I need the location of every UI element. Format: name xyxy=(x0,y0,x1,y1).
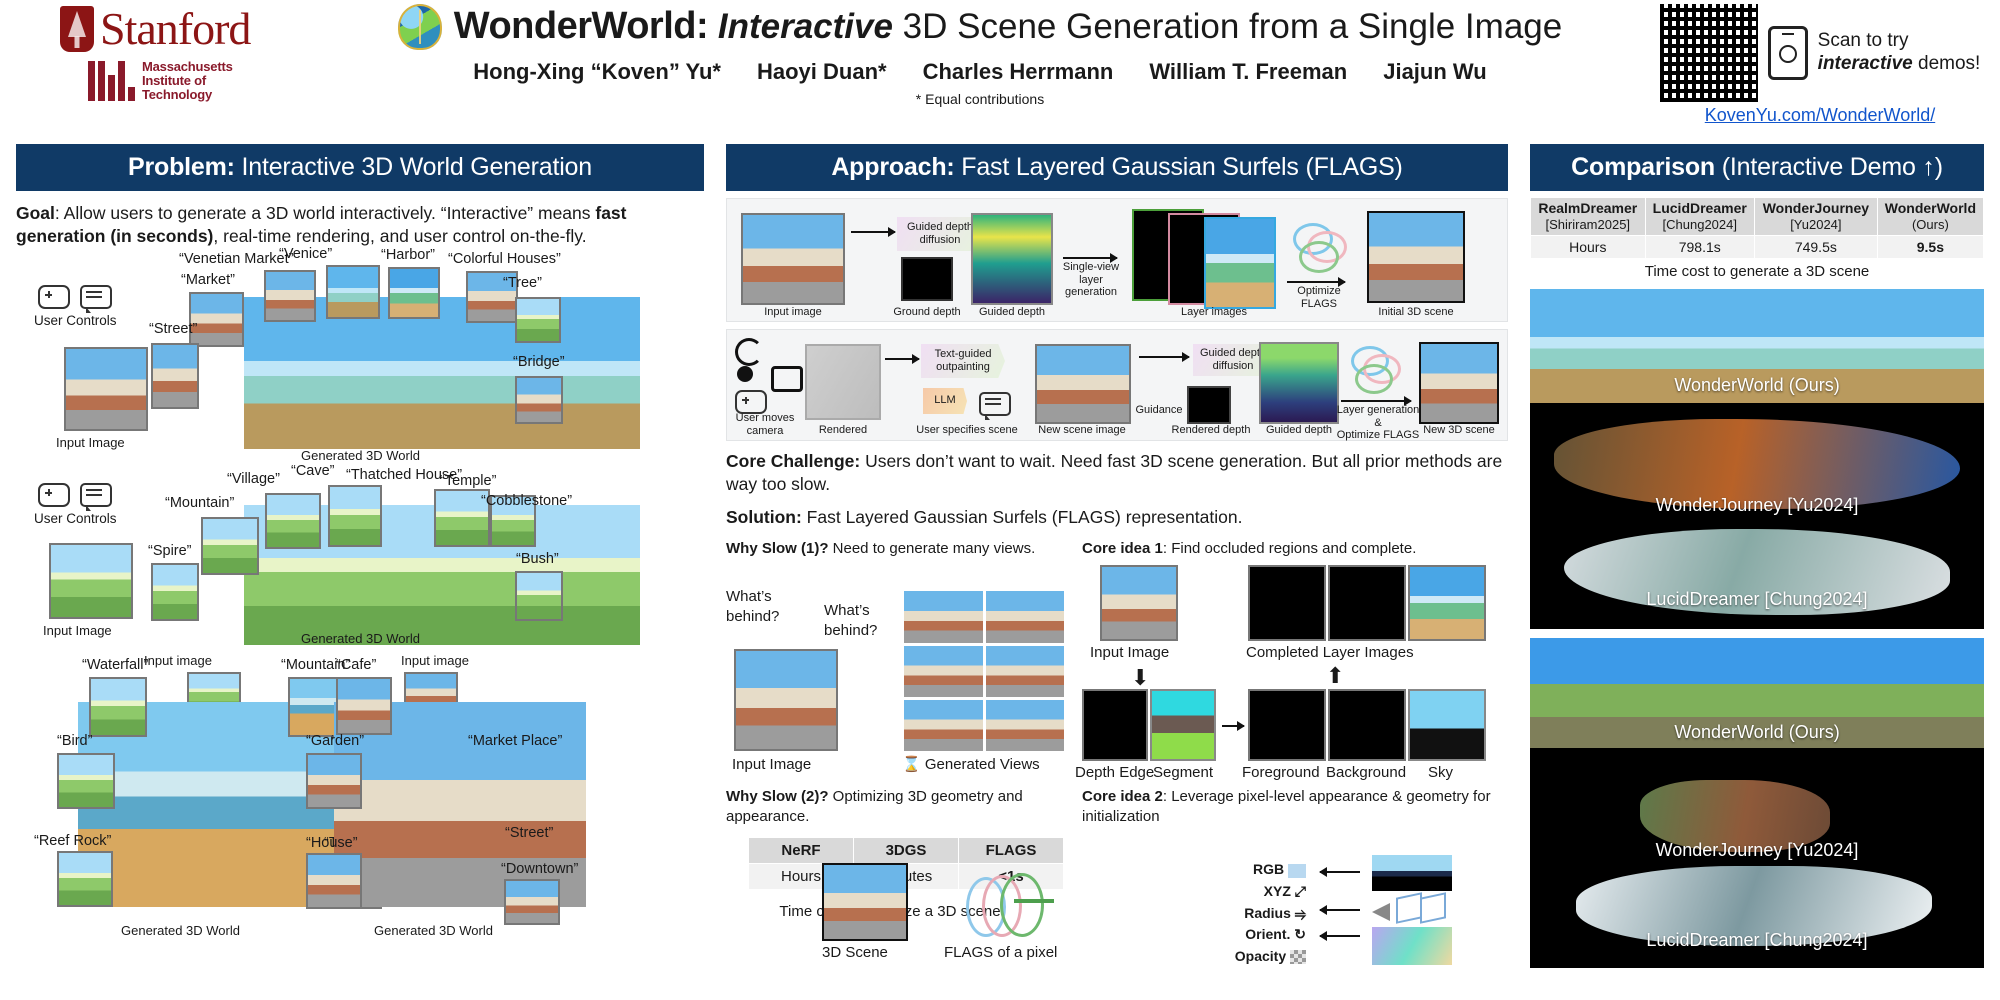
flags-3d-scene-label: 3D Scene xyxy=(822,943,888,963)
poster-root: Stanford Massachusetts Institute of Tech… xyxy=(0,0,2000,1000)
loop-arrow-icon xyxy=(735,338,763,366)
user-controls-label: User Controls xyxy=(34,313,117,328)
why-slow-1-body: Need to generate many views. xyxy=(829,540,1036,557)
generated-views-grid xyxy=(904,591,1064,751)
goal-text-2: , real-time rendering, and user control … xyxy=(213,226,586,246)
brand-name: WonderWorld: xyxy=(454,5,708,47)
segment-label: Segment xyxy=(1153,763,1213,783)
input-image-label-4: Input image xyxy=(401,653,469,668)
core-challenge-text: Core Challenge: Users don’t want to wait… xyxy=(726,450,1508,497)
whats-behind-label-2: What’s behind? xyxy=(824,601,894,640)
ci1-input-image xyxy=(1100,565,1178,641)
scene-thumb xyxy=(326,265,380,319)
scene-thumb xyxy=(515,297,561,343)
scene-thumb xyxy=(306,853,362,909)
stanford-seal-icon xyxy=(60,6,94,52)
demo-label-ours-1: WonderWorld (Ours) xyxy=(1530,375,1984,396)
pipeline1-input-label: Input image xyxy=(741,306,845,319)
cell-luciddreamer: 798.1s xyxy=(1645,236,1754,259)
scene-thumb xyxy=(306,753,362,809)
scene-thumb xyxy=(504,879,560,925)
mit-wordmark: Massachusetts Institute of Technology xyxy=(142,60,233,102)
core-idea-1-body: : Find occluded regions and complete. xyxy=(1163,540,1416,557)
scene-thumb xyxy=(515,376,563,424)
scene-label: “Mountain” xyxy=(165,495,234,511)
user-controls-1[interactable]: User Controls xyxy=(34,285,117,328)
why-slow-1: Why Slow (1)? Need to generate many view… xyxy=(726,539,1056,559)
flags-rgb-source-image xyxy=(1372,855,1452,891)
scene-label: “Cafe” xyxy=(336,657,376,673)
scene-thumb xyxy=(264,270,316,322)
segment-image xyxy=(1150,689,1216,761)
attr-rgb: RGB xyxy=(1253,861,1284,877)
arrow-icon xyxy=(1287,281,1345,283)
layer-images-label: Layer images xyxy=(1159,306,1269,319)
optimize-flags-label-1: Optimize FLAGS xyxy=(1279,285,1359,310)
gamepad-icon[interactable] xyxy=(38,285,70,309)
new-3d-scene-image xyxy=(1419,342,1499,424)
mit-bars-icon xyxy=(88,61,135,101)
wonderworld-globe-icon xyxy=(398,4,442,50)
scene-label: “Harbor” xyxy=(381,247,435,263)
flags-3d-scene-image xyxy=(822,863,908,941)
resize-icon: ⥤ xyxy=(1295,905,1306,921)
scene-thumb xyxy=(151,563,199,621)
input-image-label-3: Input image xyxy=(144,653,212,668)
flags-ellipses-icon-1 xyxy=(1287,217,1359,273)
approach-bar-bold: Approach: xyxy=(831,153,954,181)
attr-xyz: XYZ xyxy=(1264,883,1291,899)
generation-time-caption: Time cost to generate a 3D scene xyxy=(1530,263,1984,280)
ground-depth-image xyxy=(901,257,953,301)
scene-label: “Downtown” xyxy=(501,861,578,877)
guided-depth-label-1: Guided depth xyxy=(971,306,1053,319)
new-scene-image-label: New scene image xyxy=(1027,424,1137,437)
title-rest: 3D Scene Generation from a Single Image xyxy=(893,7,1562,46)
why-slow-input-label: Input Image xyxy=(732,755,811,775)
cell-wonderjourney: 749.5s xyxy=(1754,236,1877,259)
demo-label-ld-1: LucidDreamer [Chung2024] xyxy=(1530,589,1984,610)
gamepad-icon[interactable] xyxy=(735,390,767,414)
foreground-label: Foreground xyxy=(1242,763,1320,783)
comparison-header-bar: Comparison (Interactive Demo ↑) xyxy=(1530,144,1984,191)
depth-edge-image xyxy=(1082,689,1148,761)
gamepad-icon[interactable] xyxy=(38,483,70,507)
demo-label-ours-2: WonderWorld (Ours) xyxy=(1530,722,1984,743)
demo-venice[interactable]: WonderWorld (Ours) WonderJourney [Yu2024… xyxy=(1530,289,1984,629)
goal-text-1: : Allow users to generate a 3D world int… xyxy=(55,203,595,223)
flags-pixel-label: FLAGS of a pixel xyxy=(944,943,1057,963)
pipeline-stage-1: Input image Guided depth diffusion Guida… xyxy=(726,198,1508,322)
demo-label-wj-1: WonderJourney [Yu2024] xyxy=(1530,495,1984,516)
attr-orient: Orient. xyxy=(1245,926,1290,942)
layer-image-sky xyxy=(1204,217,1276,309)
mit-logo: Massachusetts Institute of Technology xyxy=(88,60,320,102)
author: Hong-Xing “Koven” Yu* xyxy=(473,59,721,85)
scan-emphasis: interactive xyxy=(1818,53,1913,74)
scene-row-fantasy: User Controls Input Image “Mountain” “Vi… xyxy=(16,465,704,655)
input-thumb-fantasy xyxy=(49,543,133,619)
scene-label: “Cobblestone” xyxy=(481,493,572,509)
guidance-label-2: Guidance xyxy=(1131,404,1187,417)
mit-line-2: Institute of xyxy=(142,74,233,88)
flags-normal-map-image xyxy=(1372,927,1452,965)
new-scene-image xyxy=(1035,344,1131,424)
camera-frustum-icon xyxy=(1372,893,1452,927)
scene-thumb xyxy=(89,677,147,737)
scene-label: “Cave” xyxy=(291,463,335,479)
input-thumb-venice xyxy=(64,347,148,431)
mit-line-1: Massachusetts xyxy=(142,60,233,74)
scene-row-venice: User Controls Input Image “Market” “Vene… xyxy=(16,255,704,465)
stanford-logo: Stanford xyxy=(60,6,320,52)
approach-bar-rest: Fast Layered Gaussian Surfels (FLAGS) xyxy=(955,153,1403,181)
scene-label: “Temple” xyxy=(440,473,496,489)
ci1-layer-bg xyxy=(1328,565,1406,641)
scene-thumb xyxy=(151,343,199,409)
generation-time-table: RealmDreamer [Shiriram2025] LucidDreamer… xyxy=(1530,197,1984,259)
input-image-label-1: Input Image xyxy=(56,435,125,450)
table-header-row: RealmDreamer [Shiriram2025] LucidDreamer… xyxy=(1531,198,1984,236)
rendered-depth-label: Rendered depth xyxy=(1171,424,1251,437)
scene-thumb xyxy=(336,677,392,735)
col-luciddreamer: LucidDreamer [Chung2024] xyxy=(1645,198,1754,236)
col-wonderworld: WonderWorld (Ours) xyxy=(1877,198,1983,236)
mit-line-3: Technology xyxy=(142,88,233,102)
scan-text: Scan to try interactive demos! xyxy=(1818,30,1981,76)
scene-label: “Bridge” xyxy=(513,354,565,370)
problem-column: Problem: Interactive 3D World Generation… xyxy=(16,144,704,955)
problem-bar-rest: Interactive 3D World Generation xyxy=(235,153,592,181)
hourglass-icon: ⌛ xyxy=(902,756,921,773)
arrow-icon xyxy=(1139,356,1189,358)
title-italic: Interactive xyxy=(718,7,893,46)
text-prompt-icon[interactable] xyxy=(979,392,1011,416)
rgb-swatch-icon xyxy=(1288,864,1306,878)
camera-icon xyxy=(771,366,803,392)
pipeline1-input-image xyxy=(741,213,845,305)
initial-scene-label: Initial 3D scene xyxy=(1367,306,1465,319)
generated-world-label-1: Generated 3D World xyxy=(301,448,420,463)
scan-line-1: Scan to try xyxy=(1818,30,1981,53)
whats-behind-label-1: What’s behind? xyxy=(726,587,796,626)
approach-lower: Why Slow (1)? Need to generate many view… xyxy=(726,539,1508,879)
core-idea-2: Core idea 2: Leverage pixel-level appear… xyxy=(1082,787,1502,826)
depth-edge-label: Depth Edge xyxy=(1075,763,1154,783)
up-arrow-icon: ⬆ xyxy=(1326,663,1344,689)
ci1-input-label: Input Image xyxy=(1090,643,1169,663)
scene-thumb xyxy=(515,571,563,621)
guided-depth-image-1 xyxy=(971,213,1053,305)
scan-line-2: demos! xyxy=(1913,53,1981,74)
poster-header: Stanford Massachusetts Institute of Tech… xyxy=(0,0,2000,132)
user-icon xyxy=(737,366,753,382)
solution-label: Solution: xyxy=(726,507,802,527)
scene-label: “Waterfall” xyxy=(82,657,148,673)
rendered-label: Rendered xyxy=(803,424,883,437)
ci1-layer-sky xyxy=(1408,565,1486,641)
author: Haoyi Duan* xyxy=(757,59,887,85)
demo-label-wj-2: WonderJourney [Yu2024] xyxy=(1530,840,1984,861)
text-prompt-icon[interactable] xyxy=(80,483,112,507)
scene-thumb xyxy=(388,267,440,319)
rendered-image xyxy=(805,344,881,420)
arrow-icon xyxy=(1320,909,1360,911)
demo-label-ld-2: LucidDreamer [Chung2024] xyxy=(1530,930,1984,951)
flags-pixel-diagram: 3D Scene FLAGS of a pixel RGB XYZ ⤢ Radi… xyxy=(726,857,1508,967)
col-wonderjourney: WonderJourney [Yu2024] xyxy=(1754,198,1877,236)
flags-attribute-list: RGB XYZ ⤢ Radius ⥤ Orient. ↻ Opacity xyxy=(1126,859,1306,967)
approach-header-bar: Approach: Fast Layered Gaussian Surfels … xyxy=(726,144,1508,191)
scene-label: “House” xyxy=(306,835,358,851)
stanford-wordmark: Stanford xyxy=(100,6,250,52)
table-row: Hours 798.1s 749.5s 9.5s xyxy=(1531,236,1984,259)
core-idea-1-label: Core idea 1 xyxy=(1082,540,1163,557)
background-image xyxy=(1328,689,1406,761)
approach-column: Approach: Fast Layered Gaussian Surfels … xyxy=(726,144,1508,967)
col-realmdreamer: RealmDreamer [Shiriram2025] xyxy=(1531,198,1646,236)
scene-row-dual: Input image “Waterfall” “Mountain” “Bird… xyxy=(16,655,704,955)
page-title: WonderWorld: Interactive 3D Scene Genera… xyxy=(330,4,1630,50)
guided-depth-image-2 xyxy=(1259,342,1339,424)
scene-thumb xyxy=(189,292,244,347)
arrow-icon xyxy=(1320,871,1360,873)
author: William T. Freeman xyxy=(1149,59,1347,85)
generated-world-label-4: Generated 3D World xyxy=(374,923,493,938)
core-idea-1: Core idea 1: Find occluded regions and c… xyxy=(1082,539,1502,559)
scene-thumb xyxy=(201,517,259,575)
scene-thumb xyxy=(265,493,321,549)
user-controls-2[interactable]: User Controls xyxy=(34,483,117,526)
scene-label: “Reef Rock” xyxy=(34,833,111,849)
generated-views-label: ⌛ Generated Views xyxy=(902,755,1040,775)
scene-label: “Spire” xyxy=(148,543,192,559)
problem-header-bar: Problem: Interactive 3D World Generation xyxy=(16,144,704,191)
foreground-image xyxy=(1248,689,1326,761)
arrow-icon xyxy=(1063,257,1117,259)
author-list: Hong-Xing “Koven” Yu* Haoyi Duan* Charle… xyxy=(330,59,1630,85)
scene-label: “Market Place” xyxy=(468,733,562,749)
scene-thumb xyxy=(328,485,382,547)
scene-label: “Garden” xyxy=(306,733,364,749)
qr-code-icon[interactable] xyxy=(1660,4,1758,102)
new-3d-scene-label: New 3D scene xyxy=(1419,424,1499,437)
text-guided-outpainting-box: Text-guided outpainting xyxy=(921,344,1005,378)
user-moves-camera-label: User moves camera xyxy=(729,412,801,437)
opacity-checker-icon xyxy=(1290,950,1306,964)
scene-thumb xyxy=(57,851,113,907)
layer-gen-optimize-label: Layer generation & Optimize FLAGS xyxy=(1331,404,1425,442)
pipeline-stage-2: User moves camera Rendered Text-guided o… xyxy=(726,329,1508,441)
ci1-layer-fg xyxy=(1248,565,1326,641)
why-slow-input-image xyxy=(734,649,838,751)
phone-hand-icon xyxy=(1768,26,1808,80)
title-block: WonderWorld: Interactive 3D Scene Genera… xyxy=(330,4,1630,107)
scene-label: “Venice” xyxy=(279,246,332,262)
down-arrow-icon: ⬇ xyxy=(1131,665,1149,691)
why-slow-1-label: Why Slow (1)? xyxy=(726,540,829,557)
demo-campus[interactable]: WonderWorld (Ours) WonderJourney [Yu2024… xyxy=(1530,638,1984,968)
core-idea-2-label: Core idea 2 xyxy=(1082,788,1163,805)
project-link[interactable]: KovenYu.com/WonderWorld/ xyxy=(1705,105,1935,126)
scene-label: “Market” xyxy=(181,272,235,288)
cell-realmdreamer: Hours xyxy=(1531,236,1646,259)
comparison-bar-bold: Comparison xyxy=(1571,153,1715,181)
rendered-depth-image xyxy=(1187,386,1231,424)
sky-label: Sky xyxy=(1428,763,1453,783)
arrow-icon xyxy=(851,231,895,233)
llm-box: LLM xyxy=(923,388,967,414)
user-specifies-scene-label: User specifies scene xyxy=(907,424,1027,437)
gaussian-surfel-icon xyxy=(966,865,1056,939)
solution-body: Fast Layered Gaussian Surfels (FLAGS) re… xyxy=(802,507,1243,527)
core-challenge-label: Core Challenge: xyxy=(726,451,860,471)
initial-3d-scene-image xyxy=(1367,211,1465,303)
qr-block[interactable]: Scan to try interactive demos! KovenYu.c… xyxy=(1655,4,1985,126)
solution-text: Solution: Fast Layered Gaussian Surfels … xyxy=(726,506,1508,529)
axes-icon: ⤢ xyxy=(1295,883,1306,899)
ci1-completed-label: Completed Layer Images xyxy=(1246,643,1414,663)
guided-depth-label-2: Guided depth xyxy=(1259,424,1339,437)
arrow-icon xyxy=(885,358,919,360)
cell-wonderworld: 9.5s xyxy=(1877,236,1983,259)
input-image-label-2: Input Image xyxy=(43,623,112,638)
text-prompt-icon[interactable] xyxy=(80,285,112,309)
scene-label: “Tree” xyxy=(503,275,542,291)
goal-label: Goal xyxy=(16,203,55,223)
author: Charles Herrmann xyxy=(923,59,1114,85)
scene-label: “Street” xyxy=(149,321,197,337)
equal-contribution-note: * Equal contributions xyxy=(330,91,1630,107)
author: Jiajun Wu xyxy=(1383,59,1487,85)
comparison-bar-rest: (Interactive Demo ↑) xyxy=(1715,153,1943,181)
single-view-label: Single-view layer generation xyxy=(1059,261,1123,299)
generated-world-label-2: Generated 3D World xyxy=(301,631,420,646)
comparison-column: Comparison (Interactive Demo ↑) RealmDre… xyxy=(1530,144,1984,968)
arrow-icon xyxy=(1222,725,1244,727)
why-slow-2-label: Why Slow (2)? xyxy=(726,788,829,805)
scene-label: “Colorful Houses” xyxy=(448,251,561,267)
sky-image xyxy=(1408,689,1486,761)
rotate-icon: ↻ xyxy=(1294,926,1306,942)
scene-label: “Bird” xyxy=(57,733,92,749)
scene-label: “Bush” xyxy=(516,551,559,567)
attr-opacity: Opacity xyxy=(1235,948,1286,964)
arrow-icon xyxy=(1320,935,1360,937)
arrow-icon xyxy=(1341,400,1411,402)
why-slow-2: Why Slow (2)? Optimizing 3D geometry and… xyxy=(726,787,1066,826)
user-controls-label: User Controls xyxy=(34,511,117,526)
problem-bar-bold: Problem: xyxy=(128,153,235,181)
goal-text: Goal: Allow users to generate a 3D world… xyxy=(16,202,704,249)
scene-label: “Venetian Market” xyxy=(179,251,293,267)
affiliation-logos: Stanford Massachusetts Institute of Tech… xyxy=(60,6,320,102)
generated-world-label-3: Generated 3D World xyxy=(121,923,240,938)
scene-thumb xyxy=(57,753,115,809)
background-label: Background xyxy=(1326,763,1406,783)
attr-radius: Radius xyxy=(1244,905,1291,921)
scene-label: “Village” xyxy=(227,471,280,487)
scene-label: “Street” xyxy=(505,825,553,841)
ground-depth-label: Ground depth xyxy=(887,306,967,319)
flags-ellipses-icon-2 xyxy=(1345,342,1411,392)
